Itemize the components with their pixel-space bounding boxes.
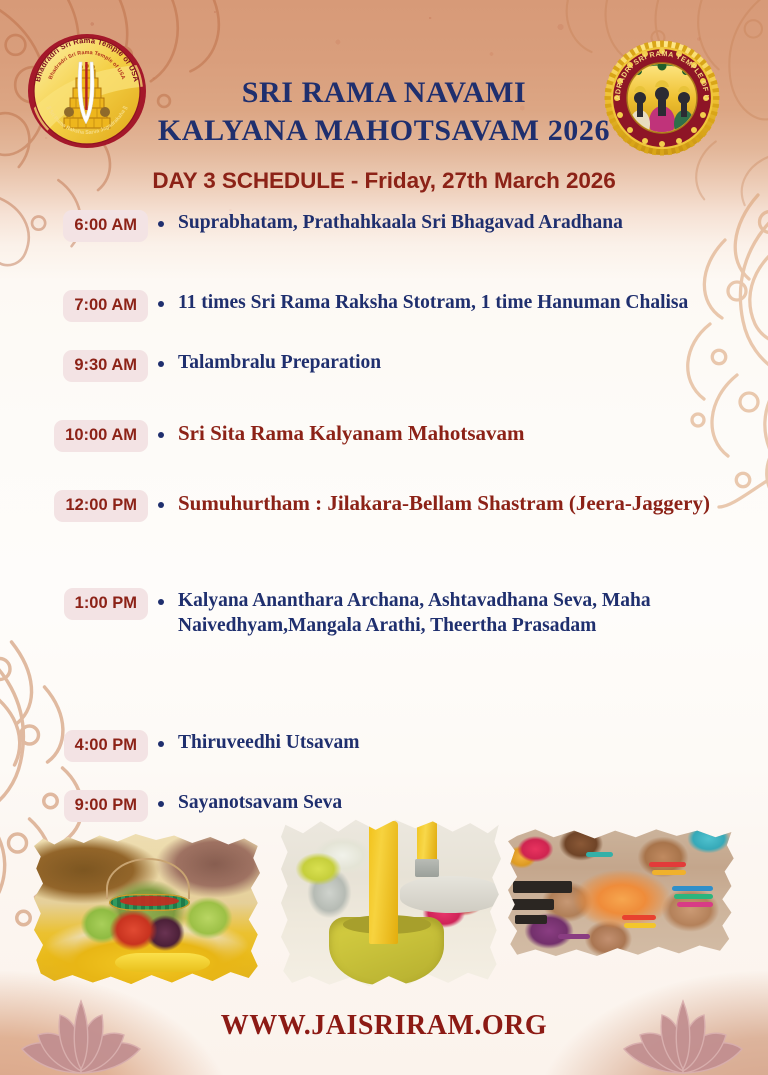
schedule-time-cell: 9:00 PM [0,790,158,822]
page-title: SRI RAMA NAVAMI KALYANA MAHOTSAVAM 2026 [0,76,768,147]
time-badge: 9:30 AM [63,350,148,382]
schedule-description-cell: Suprabhatam, Prathahkaala Sri Bhagavad A… [158,210,768,235]
schedule-row: 12:00 PMSumuhurtham : Jilakara-Bellam Sh… [0,490,768,522]
bangle [624,923,656,928]
photo-hands-mixing-talambralu [508,828,736,960]
schedule-item-text: Thiruveedhi Utsavam [178,730,359,755]
schedule-row: 1:00 PMKalyana Ananthara Archana, Ashtav… [0,588,768,639]
title-line-2: KALYANA MAHOTSAVAM 2026 [0,114,768,148]
bullet-icon [158,599,164,605]
time-badge: 9:00 PM [64,790,148,822]
schedule-time-cell: 9:30 AM [0,350,158,382]
bullet-icon [158,301,164,307]
schedule-description-cell: Thiruveedhi Utsavam [158,730,768,755]
schedule-row: 6:00 AMSuprabhatam, Prathahkaala Sri Bha… [0,210,768,242]
bangle [586,852,613,857]
time-badge: 12:00 PM [54,490,148,522]
torn-edge-stroke [513,881,572,893]
bangle [672,886,713,891]
schedule-description-cell: Sri Sita Rama Kalyanam Mahotsavam [158,420,768,447]
schedule-time-cell: 12:00 PM [0,490,158,522]
bullet-icon [158,432,164,438]
schedule-time-cell: 4:00 PM [0,730,158,762]
schedule-description-cell: Talambralu Preparation [158,350,768,375]
schedule-description-cell: Sumuhurtham : Jilakara-Bellam Shastram (… [158,490,768,517]
torn-edge-stroke [508,899,554,910]
photo-turmeric-mortar-pestle [281,818,501,988]
schedule-row: 9:00 PMSayanotsavam Seva [0,790,768,822]
kalasam-red-decoration [120,896,179,907]
bullet-icon [158,502,164,508]
schedule-time-cell: 6:00 AM [0,210,158,242]
schedule-row: 9:30 AMTalambralu Preparation [0,350,768,382]
poster-canvas: Bhadradri Sri Rama Temple of USA Bhadrad… [0,0,768,1075]
bangle [677,902,713,907]
schedule-description-cell: 11 times Sri Rama Raksha Stotram, 1 time… [158,290,768,315]
second-pestle-collar [415,859,439,878]
bangle [674,894,713,899]
schedule-description-cell: Sayanotsavam Seva [158,790,768,815]
schedule-row: 4:00 PMThiruveedhi Utsavam [0,730,768,762]
schedule-item-text: Kalyana Ananthara Archana, Ashtavadhana … [178,588,718,639]
second-pestle [417,818,437,862]
schedule-item-text: Sri Sita Rama Kalyanam Mahotsavam [178,420,525,447]
time-badge: 4:00 PM [64,730,148,762]
schedule-row: 7:00 AM11 times Sri Rama Raksha Stotram,… [0,290,768,322]
schedule-subtitle: DAY 3 SCHEDULE - Friday, 27th March 2026 [0,168,768,194]
schedule-item-text: Suprabhatam, Prathahkaala Sri Bhagavad A… [178,210,623,235]
bullet-icon [158,361,164,367]
title-line-1: SRI RAMA NAVAMI [0,76,768,110]
bullet-icon [158,741,164,747]
schedule-item-text: Sumuhurtham : Jilakara-Bellam Shastram (… [178,490,710,517]
bullet-icon [158,801,164,807]
schedule-item-text: 11 times Sri Rama Raksha Stotram, 1 time… [178,290,688,315]
bangle [622,915,656,920]
schedule-description-cell: Kalyana Ananthara Archana, Ashtavadhana … [158,588,768,639]
bangle [649,862,685,867]
photo-gallery [0,818,768,993]
banana-bunch [115,953,210,973]
website-url[interactable]: WWW.JAISRIRAM.ORG [0,1010,768,1042]
bullet-icon [158,221,164,227]
schedule-time-cell: 1:00 PM [0,588,158,620]
time-badge: 6:00 AM [63,210,148,242]
bangle [652,870,686,875]
time-badge: 10:00 AM [54,420,148,452]
turmeric-pestle [369,821,398,943]
photo-kalasam-fruits-tray [34,834,260,984]
torn-edge-stroke [515,915,547,924]
schedule-row: 10:00 AMSri Sita Rama Kalyanam Mahotsava… [0,420,768,452]
schedule-item-text: Sayanotsavam Seva [178,790,342,815]
time-badge: 1:00 PM [64,588,148,620]
time-badge: 7:00 AM [63,290,148,322]
schedule-time-cell: 7:00 AM [0,290,158,322]
bangle [558,934,590,939]
schedule-time-cell: 10:00 AM [0,420,158,452]
puja-tray [400,876,501,913]
schedule-item-text: Talambralu Preparation [178,350,381,375]
